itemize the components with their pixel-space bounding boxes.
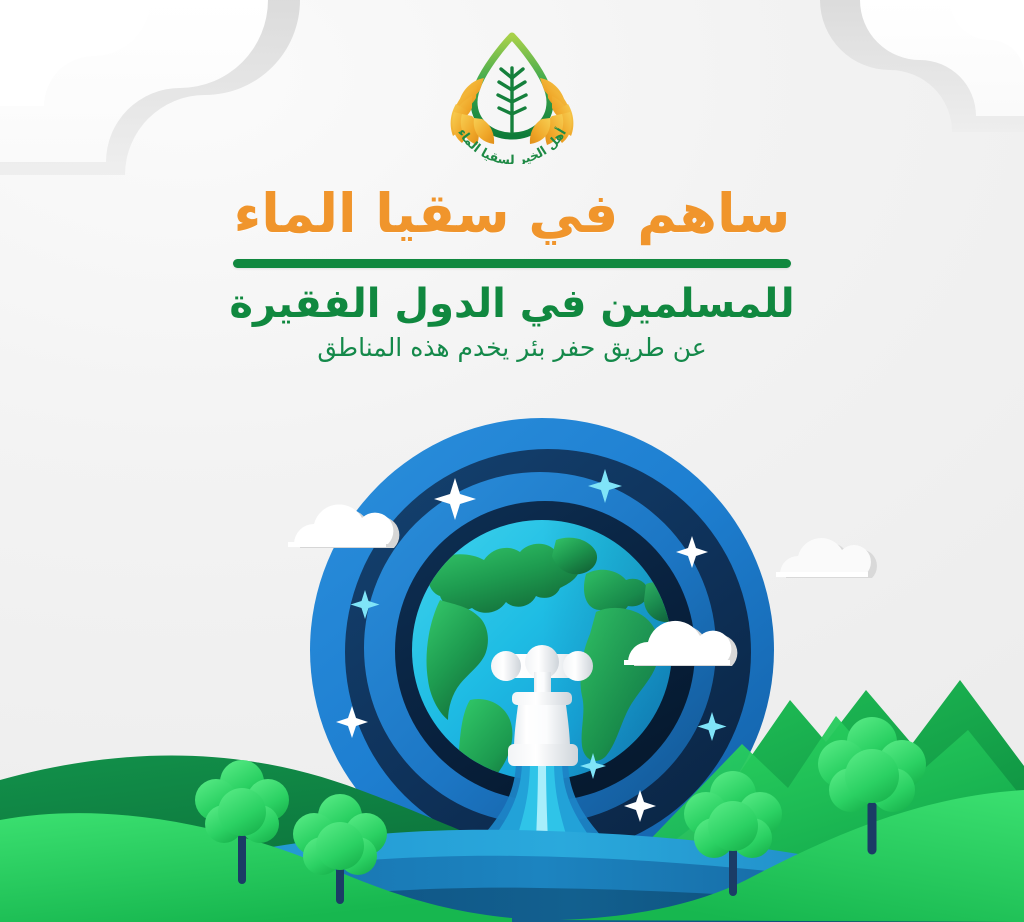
- sprout-icon: [498, 68, 526, 132]
- tagline: عن طريق حفر بئر يخدم هذه المناطق: [0, 332, 1024, 363]
- logo: أهل الخير لسقيا الماء: [432, 28, 592, 164]
- poster-canvas: أهل الخير لسقيا الماء ساهم في سقيا الماء…: [0, 0, 1024, 922]
- page-title: ساهم في سقيا الماء: [0, 186, 1024, 243]
- green-divider: [233, 259, 791, 268]
- headline-block: ساهم في سقيا الماء للمسلمين في الدول الف…: [0, 186, 1024, 363]
- divider-row: [0, 259, 1024, 268]
- subtitle: للمسلمين في الدول الفقيرة: [0, 282, 1024, 326]
